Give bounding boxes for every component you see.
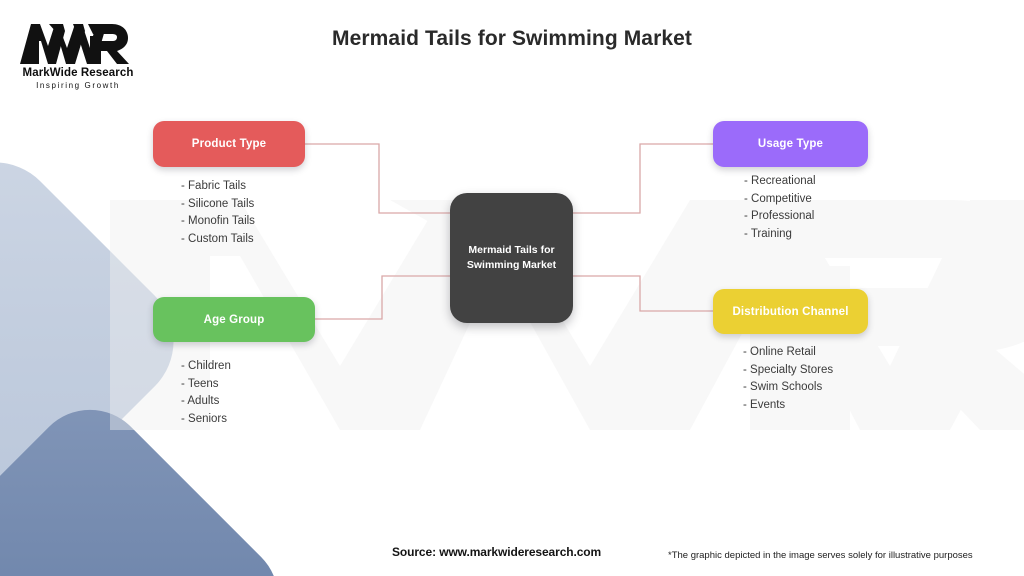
diagram-canvas: MarkWide Research Inspiring Growth Merma… [0,0,1024,576]
list-item: - Teens [181,376,231,394]
list-item: - Swim Schools [743,379,833,397]
branch-label-age-group: Age Group [204,314,265,326]
list-item: - Custom Tails [181,231,255,249]
branch-node-product-type[interactable]: Product Type [153,121,305,167]
logo-tagline: Inspiring Growth [18,81,138,90]
page-title: Mermaid Tails for Swimming Market [0,27,1024,51]
list-item: - Adults [181,393,231,411]
list-item: - Specialty Stores [743,362,833,380]
list-item: - Children [181,358,231,376]
list-item: - Training [744,226,816,244]
branch-label-usage-type: Usage Type [758,138,823,150]
list-item: - Silicone Tails [181,196,255,214]
list-item: - Competitive [744,191,816,209]
center-node[interactable]: Mermaid Tails for Swimming Market [450,193,573,323]
branch-label-distribution-channel: Distribution Channel [732,306,848,318]
branch-items-usage-type: - Recreational - Competitive - Professio… [744,173,816,243]
branch-node-age-group[interactable]: Age Group [153,297,315,342]
branch-items-age-group: - Children - Teens - Adults - Seniors [181,358,231,428]
disclaimer-text: *The graphic depicted in the image serve… [668,550,973,561]
branch-node-usage-type[interactable]: Usage Type [713,121,868,167]
logo-company-name: MarkWide Research [18,67,138,79]
list-item: - Fabric Tails [181,178,255,196]
center-node-label: Mermaid Tails for Swimming Market [450,243,573,273]
list-item: - Seniors [181,411,231,429]
list-item: - Online Retail [743,344,833,362]
source-text: Source: www.markwideresearch.com [392,545,601,559]
list-item: - Professional [744,208,816,226]
list-item: - Monofin Tails [181,213,255,231]
branch-node-distribution-channel[interactable]: Distribution Channel [713,289,868,334]
list-item: - Recreational [744,173,816,191]
branch-items-product-type: - Fabric Tails - Silicone Tails - Monofi… [181,178,255,248]
list-item: - Events [743,397,833,415]
branch-label-product-type: Product Type [192,138,266,150]
branch-items-distribution-channel: - Online Retail - Specialty Stores - Swi… [743,344,833,414]
